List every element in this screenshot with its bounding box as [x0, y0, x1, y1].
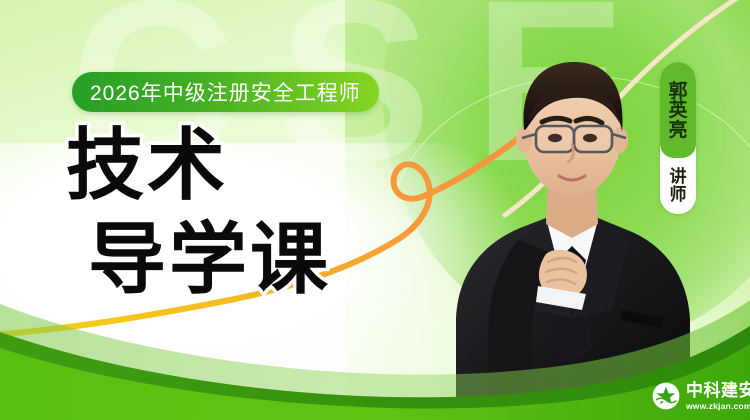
instructor-name: 郭 英 亮 [660, 62, 696, 158]
page-title: 技术 导学课 [66, 128, 331, 297]
title-line-1: 技术 [66, 128, 331, 204]
instructor-role-char-2: 师 [670, 186, 687, 204]
instructor-name-char-1: 郭 [668, 82, 687, 102]
brand-logo: 中科建安 www.zkjan.com [652, 382, 750, 411]
instructor-role: 讲 师 [660, 158, 696, 214]
title-line-2: 导学课 [88, 222, 331, 298]
course-subtitle-pill: 2026年中级注册安全工程师 [72, 72, 379, 112]
instructor-role-char-1: 讲 [670, 168, 687, 186]
instructor-badge: 郭 英 亮 讲 师 [660, 62, 696, 214]
brand-url: www.zkjan.com [686, 402, 750, 411]
course-banner: CSE [0, 0, 750, 420]
brand-name: 中科建安 [686, 382, 750, 399]
course-subtitle-text: 2026年中级注册安全工程师 [90, 77, 361, 107]
star-mountain-circle-icon [652, 382, 680, 410]
instructor-name-char-2: 英 [668, 101, 687, 121]
instructor-name-char-3: 亮 [668, 121, 687, 141]
